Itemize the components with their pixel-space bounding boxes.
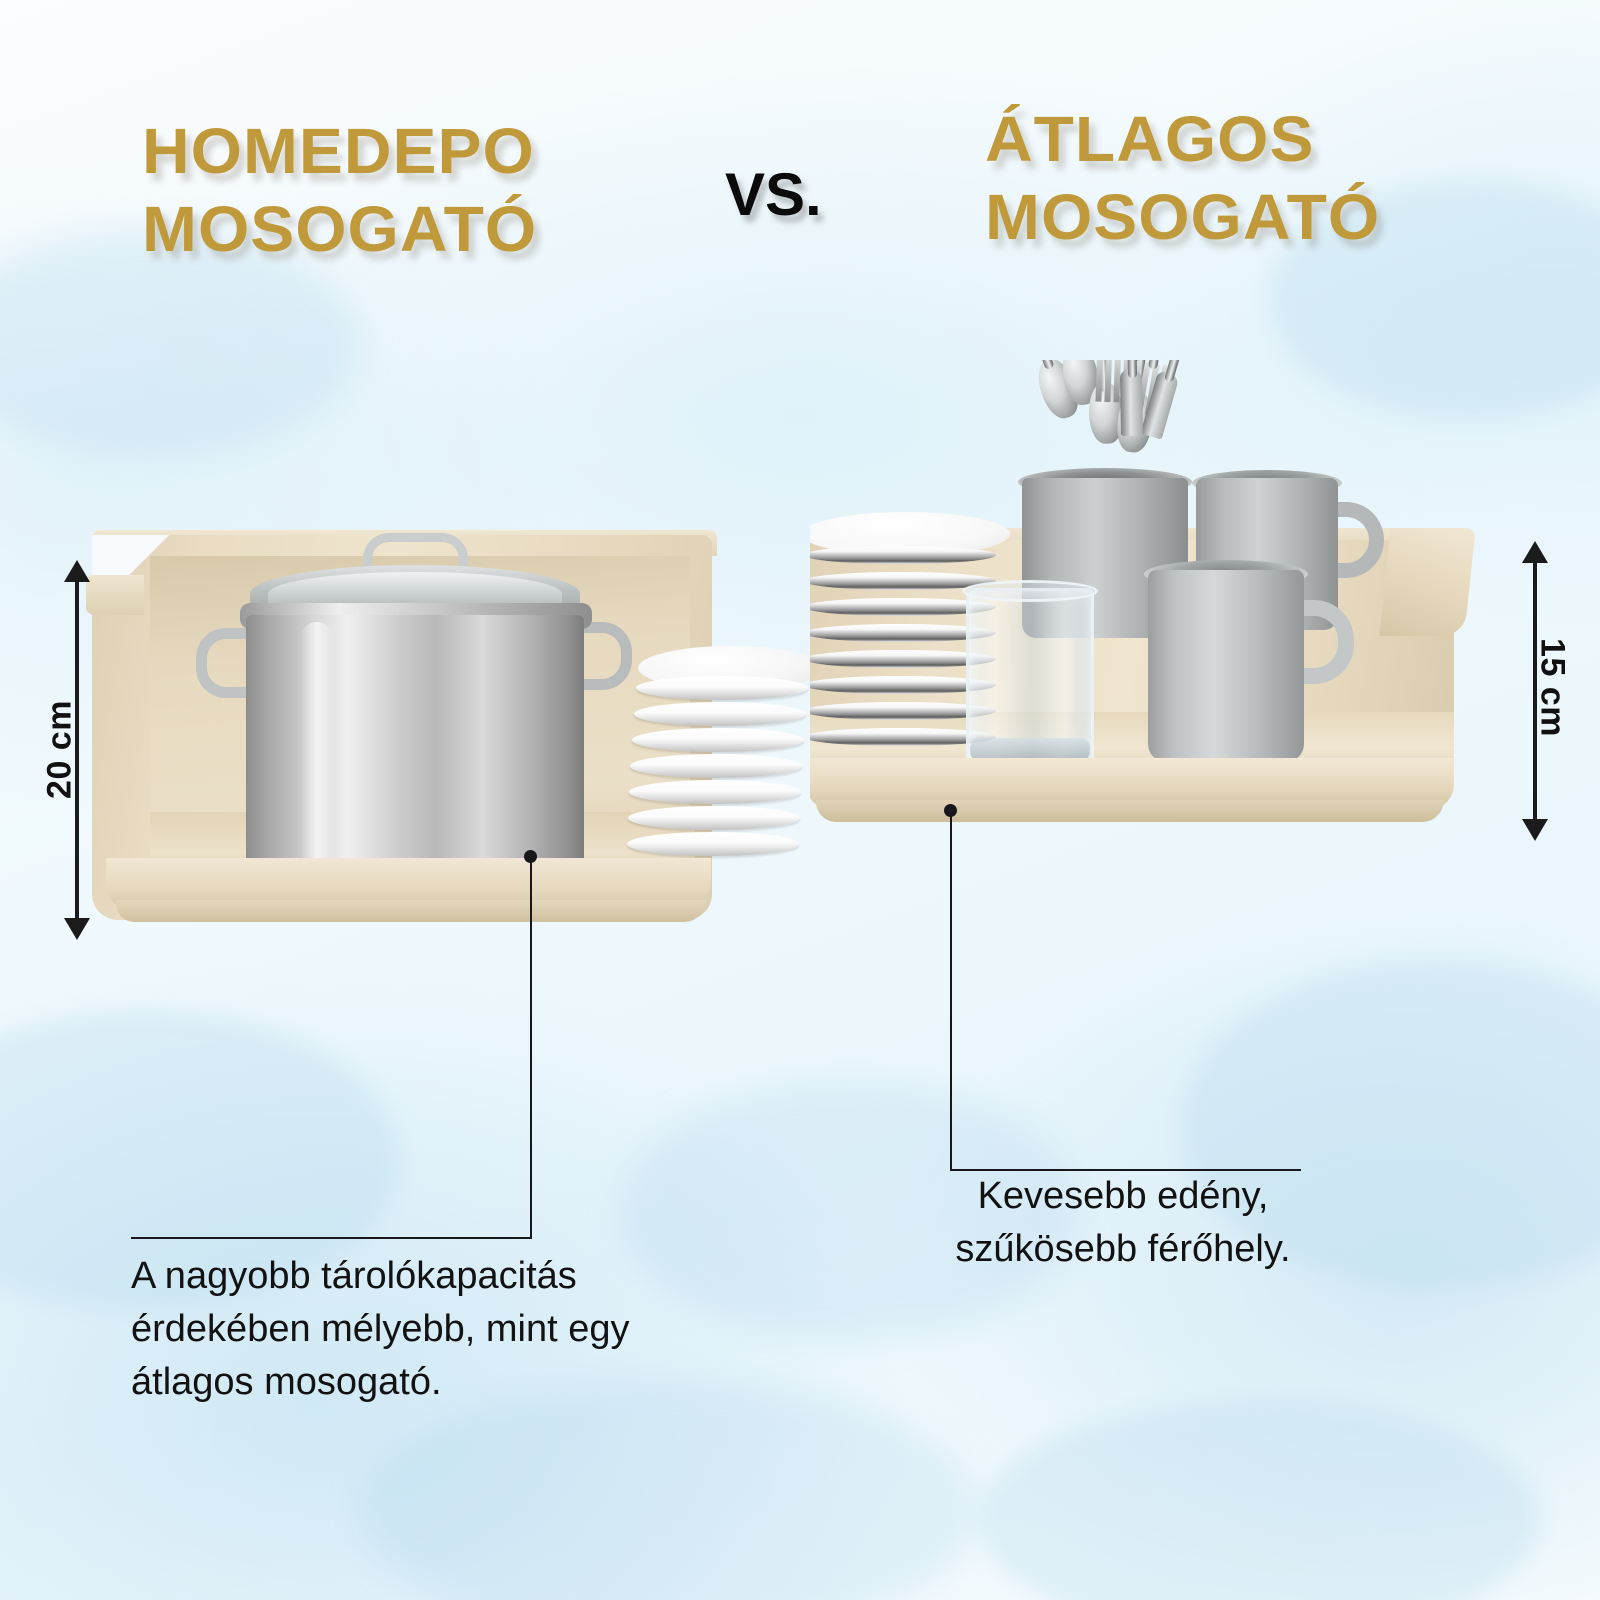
sink-side-lip: [86, 575, 144, 615]
grey-mug-front: [1148, 570, 1304, 762]
panel-homedepo-sink: [0, 360, 810, 980]
sink-under-rim-right: [816, 800, 1444, 822]
dimension-label-left: 20 cm: [41, 680, 80, 820]
leader-line-vertical-right: [950, 816, 952, 1170]
versus-label: VS.: [725, 160, 822, 229]
caption-right: Kevesebb edény, szűkösebb férőhely.: [928, 1170, 1318, 1276]
plate-left: [632, 728, 804, 752]
plate-right: [810, 546, 996, 564]
headline-right: ÁTLAGOS MOSOGATÓ: [985, 100, 1380, 256]
plate-left: [629, 780, 801, 804]
headline-right-line2: MOSOGATÓ: [985, 178, 1380, 256]
plate-left: [627, 832, 799, 856]
dimension-label-right: 15 cm: [1533, 618, 1572, 758]
product-comparison-band: [0, 360, 1600, 980]
stockpot-body: [246, 615, 584, 885]
plate-left: [628, 806, 800, 830]
plate-left: [634, 702, 806, 726]
panel-average-sink: [810, 360, 1510, 980]
headline-left-line2: MOSOGATÓ: [142, 190, 537, 268]
headline-right-line1: ÁTLAGOS: [985, 100, 1380, 178]
headline-left: HOMEDEPO MOSOGATÓ: [142, 112, 537, 268]
leader-line-vertical-left: [530, 862, 532, 1238]
arrow-down-icon: [64, 918, 90, 940]
plate-left: [630, 754, 802, 778]
headline-left-line1: HOMEDEPO: [142, 112, 537, 190]
arrow-down-icon: [1522, 819, 1548, 841]
sink-under-rim-left: [116, 900, 706, 922]
sink-corner-flare-right: [1379, 528, 1475, 636]
pot-highlight: [300, 622, 334, 872]
drinking-glass-rim: [962, 580, 1098, 602]
plate-left: [636, 676, 808, 700]
leader-line-horizontal-left: [131, 1237, 532, 1239]
caption-left: A nagyobb tárolókapacitás érdekében mély…: [131, 1250, 691, 1410]
